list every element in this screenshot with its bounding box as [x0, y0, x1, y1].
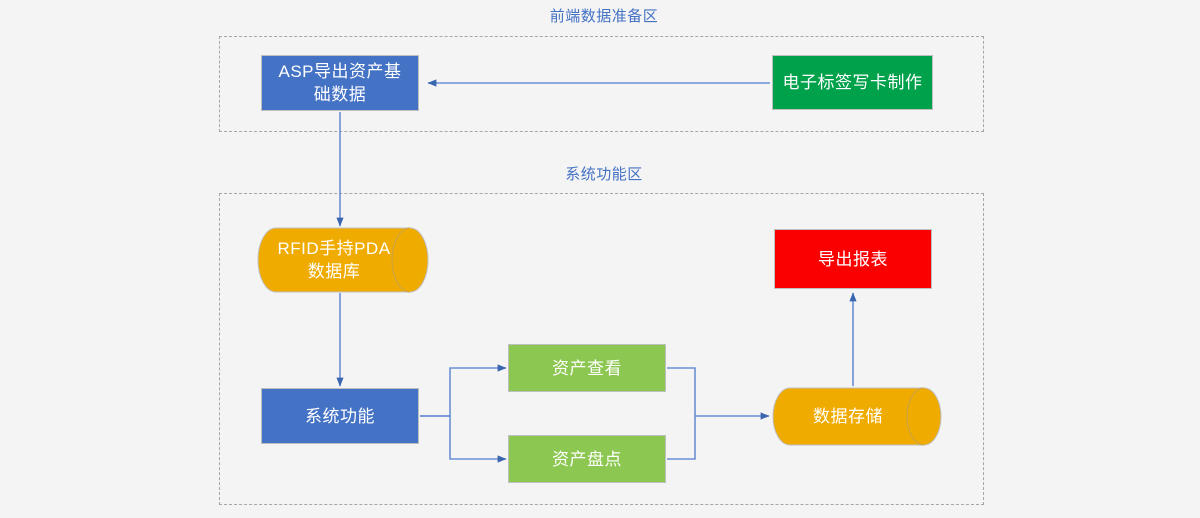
node-data-storage-label: 数据存储	[773, 388, 941, 445]
node-asset-inventory[interactable]: 资产盘点	[508, 435, 666, 483]
node-system-functions[interactable]: 系统功能	[261, 388, 419, 444]
node-export-report[interactable]: 导出报表	[774, 229, 932, 289]
node-asp-export[interactable]: ASP导出资产基 础数据	[261, 55, 419, 111]
zone-title-system-function: 系统功能区	[504, 166, 704, 184]
zone-title-front-end-data-prep: 前端数据准备区	[504, 8, 704, 26]
node-rfid-pda-db[interactable]: RFID手持PDA 数据库	[258, 228, 428, 292]
node-rfid-tag-write[interactable]: 电子标签写卡制作	[772, 55, 933, 110]
flowchart-canvas: 前端数据准备区 系统功能区 ASP导出资产基 础数据 电子标签写卡制作	[0, 0, 1200, 518]
node-rfid-pda-db-label: RFID手持PDA 数据库	[258, 228, 428, 292]
node-data-storage[interactable]: 数据存储	[773, 388, 941, 445]
node-asset-view[interactable]: 资产查看	[508, 344, 666, 392]
